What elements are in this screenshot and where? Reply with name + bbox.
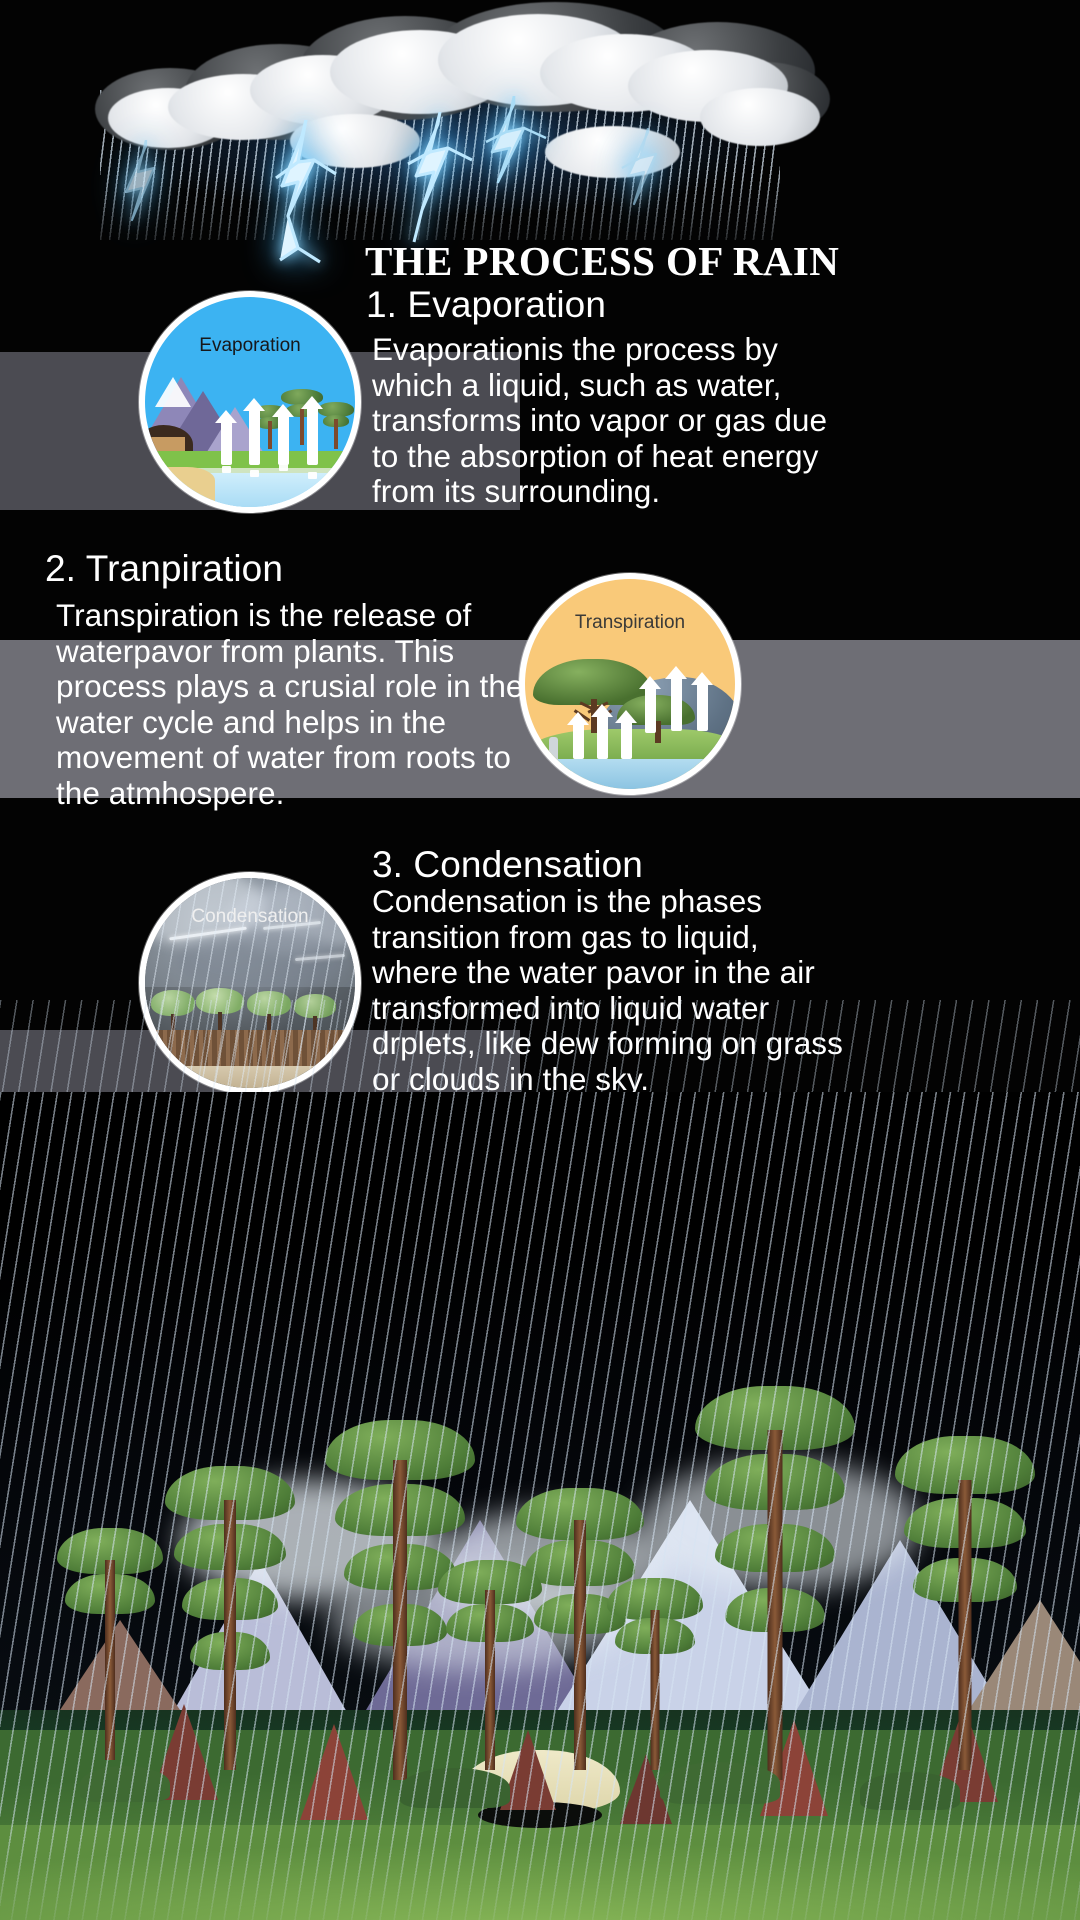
lightning-bolt — [612, 128, 702, 228]
footer-forest-scene — [0, 1092, 1080, 1920]
vapor-dot — [279, 464, 288, 471]
snow-cap — [155, 377, 191, 407]
pipe-shape — [549, 737, 558, 763]
vapor-arrow — [597, 715, 608, 759]
transpiration-circle-label: Transpiration — [525, 612, 735, 634]
vapor-arrow — [645, 687, 656, 733]
vapor-arrow — [249, 409, 260, 465]
white-cloud — [700, 88, 820, 146]
grass-field-front — [0, 1825, 1080, 1920]
pine-tree — [610, 1560, 700, 1770]
shrub — [660, 1762, 780, 1804]
sand-bank — [145, 467, 215, 501]
step-3-heading: 3. Condensation — [372, 844, 643, 886]
river-water — [525, 759, 735, 789]
shrub — [400, 1768, 510, 1808]
step-2-heading: 2. Tranpiration — [45, 548, 283, 590]
pine-tree — [60, 1510, 160, 1760]
lightning-bolt — [470, 96, 580, 216]
vapor-arrow — [221, 421, 232, 465]
vapor-arrow — [278, 415, 289, 465]
pine-tree — [440, 1540, 540, 1770]
vapor-dot — [308, 472, 317, 479]
step-2-body: Transpiration is the release of waterpav… — [56, 598, 526, 812]
evaporation-circle-label: Evaporation — [145, 335, 355, 357]
pine-tree — [900, 1410, 1030, 1770]
poster-canvas: THE PROCESS OF RAIN 1. Evaporation Evapo… — [0, 0, 1080, 1920]
vapor-dot — [222, 466, 231, 473]
shrub — [860, 1772, 960, 1810]
step-1-body: Evaporationis the process by which a liq… — [372, 332, 842, 510]
vapor-arrow — [697, 683, 708, 731]
page-title: THE PROCESS OF RAIN — [365, 237, 1005, 285]
vapor-arrow — [621, 721, 632, 759]
vapor-arrow — [307, 407, 318, 465]
condensation-circle-label: Condensation — [145, 906, 355, 928]
evaporation-illustration: Evaporation — [139, 291, 361, 513]
pine-tree — [700, 1360, 850, 1780]
transpiration-illustration: Transpiration — [519, 573, 741, 795]
pine-tree — [170, 1440, 290, 1770]
shrub — [80, 1766, 170, 1802]
vapor-arrow — [671, 677, 682, 731]
vapor-arrow — [573, 723, 584, 759]
lightning-bolt — [108, 140, 198, 250]
vapor-dot — [250, 470, 259, 477]
step-1-heading: 1. Evaporation — [366, 284, 606, 326]
tree — [321, 389, 351, 449]
